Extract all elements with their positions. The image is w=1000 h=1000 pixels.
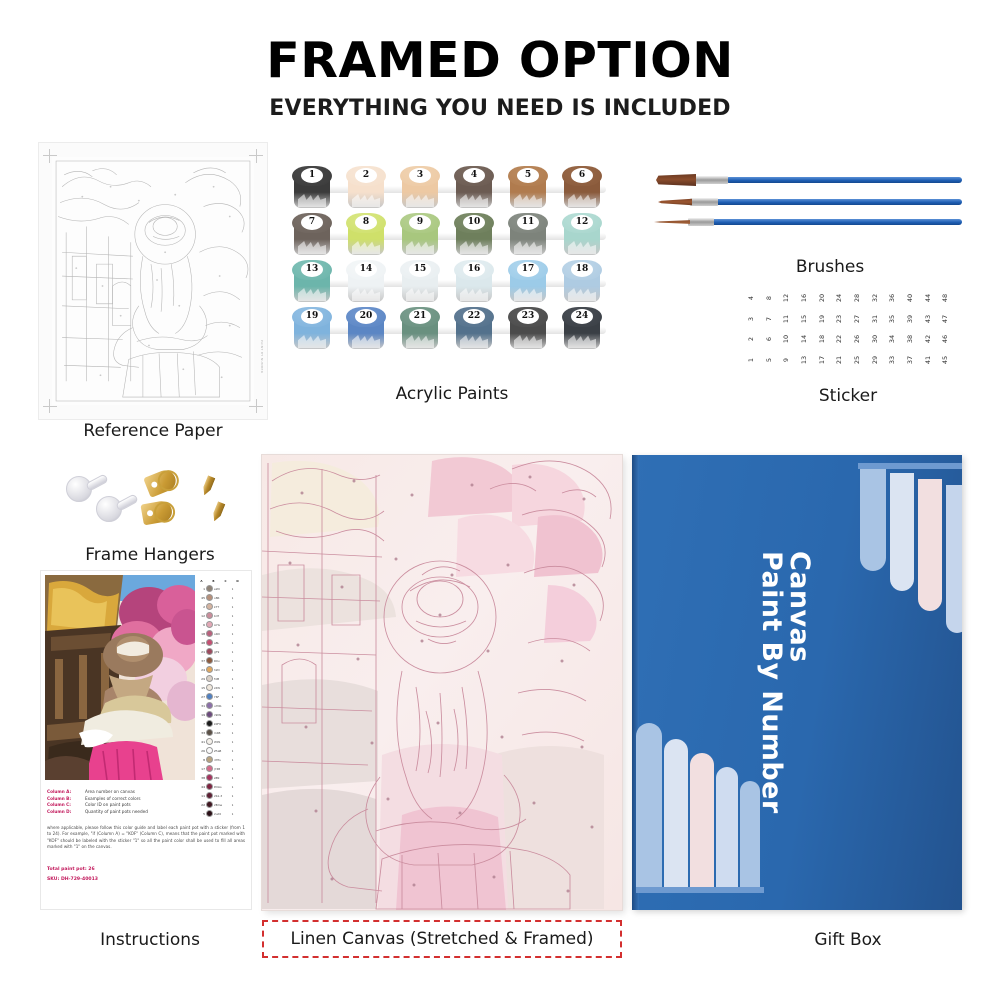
swatch-area-number: 44: [196, 785, 205, 789]
sticker-number[interactable]: 14: [800, 330, 808, 348]
swatch-row: 7k0F91: [196, 719, 248, 728]
swatch-column-header: D: [232, 579, 243, 583]
sticker-number[interactable]: 2: [747, 330, 755, 348]
instruction-column-key: Column B:: [47, 796, 81, 801]
paint-pot[interactable]: 9: [400, 213, 440, 255]
swatch-column-header: C: [220, 579, 231, 583]
paint-pot[interactable]: 11: [508, 213, 548, 255]
swatch-color-code: R0u: [214, 659, 228, 663]
swatch-quantity: 1: [229, 758, 236, 762]
swatch-color-code: u7Nb: [214, 704, 228, 708]
swatch-color-dot: [206, 657, 213, 664]
sticker-number[interactable]: 31: [870, 310, 878, 328]
caption-linen-canvas: Linen Canvas (Stretched & Framed): [262, 920, 622, 958]
sticker-number[interactable]: 22: [835, 330, 843, 348]
swatch-color-code: e2N: [214, 587, 228, 591]
instruction-column-key: Column D:: [47, 809, 81, 814]
swatch-area-number: 29: [196, 677, 205, 681]
sticker-number[interactable]: 3: [747, 310, 755, 328]
sticker-number[interactable]: 11: [782, 310, 790, 328]
sticker-number[interactable]: 43: [923, 310, 931, 328]
swatch-row: 2k7T1: [196, 602, 248, 611]
swatch-quantity: 1: [229, 623, 236, 627]
swatch-quantity: 1: [229, 704, 236, 708]
sticker-number[interactable]: 21: [835, 351, 843, 369]
sticker-number[interactable]: 26: [853, 330, 861, 348]
paint-pot[interactable]: 21: [400, 307, 440, 349]
swatch-color-dot: [206, 621, 213, 628]
paint-pot[interactable]: 17: [508, 260, 548, 302]
swatch-area-number: 19: [196, 713, 205, 717]
swatch-quantity: 1: [229, 650, 236, 654]
paint-pot[interactable]: 22: [454, 307, 494, 349]
sticker-column: 32313029: [866, 288, 884, 370]
swatch-area-number: 38: [196, 776, 205, 780]
paint-pot-number: 8: [355, 215, 377, 230]
swatch-row: 21gT91: [196, 647, 248, 656]
swatch-area-number: 26: [196, 749, 205, 753]
brush-tip-flat: [656, 174, 696, 186]
swatch-color-code: h2D: [214, 668, 228, 672]
swatch-color-dot: [206, 648, 213, 655]
instruction-column-value: Quantity of paint pots needed: [85, 809, 148, 814]
sticker-number[interactable]: 4: [747, 289, 755, 307]
swatch-quantity: 1: [229, 641, 236, 645]
swatch-color-dot: [206, 693, 213, 700]
instruction-column-line: Column D:Quantity of paint pots needed: [47, 809, 247, 814]
sticker-number[interactable]: 20: [817, 289, 825, 307]
paint-pot-number: 21: [409, 309, 431, 324]
sticker-number[interactable]: 13: [800, 351, 808, 369]
swatch-area-number: 7: [196, 722, 205, 726]
paint-pot[interactable]: 20: [346, 307, 386, 349]
reference-line-art: [52, 157, 254, 405]
paint-pot-number: 19: [301, 309, 323, 324]
sticker-number[interactable]: 24: [835, 289, 843, 307]
swatch-color-dot: [206, 603, 213, 610]
swatch-color-dot: [206, 774, 213, 781]
paint-pot[interactable]: 8: [346, 213, 386, 255]
sticker-number[interactable]: 7: [764, 310, 772, 328]
swatch-quantity: 1: [229, 740, 236, 744]
instructions-sheet: ABCD 1e2N145o8R12k7T112bd716A7G118o4N148…: [40, 570, 252, 910]
paint-pot[interactable]: 4: [454, 166, 494, 208]
paint-pot-strip: [298, 186, 606, 193]
swatch-area-number: 6: [196, 623, 205, 627]
paint-pot[interactable]: 10: [454, 213, 494, 255]
caption-acrylic-paints: Acrylic Paints: [292, 384, 612, 404]
instruction-column-key: Column C:: [47, 802, 81, 807]
swatch-area-number: 27: [196, 695, 205, 699]
swatch-quantity: 1: [229, 785, 236, 789]
caption-sticker: Sticker: [742, 386, 954, 406]
instructions-total-paint-pots: Total paint pot: 26: [47, 867, 95, 872]
paint-pot-row: 789101112: [292, 213, 612, 257]
paint-pot-number: 1: [301, 168, 323, 183]
gift-box-title-line2: Paint By Number: [756, 551, 786, 814]
swatch-row: 37R0u1: [196, 656, 248, 665]
sticker-number[interactable]: 12: [782, 289, 790, 307]
gift-box-title-line1: Canvas: [784, 551, 814, 663]
swatch-row: 17jY4B1: [196, 764, 248, 773]
brush-tip-round: [658, 198, 692, 206]
instructions-preview-image: [45, 575, 195, 780]
swatch-area-number: 12: [196, 614, 205, 618]
hanger-screw: [211, 501, 226, 523]
instructions-paragraph: where applicable, please follow this col…: [47, 825, 245, 850]
swatch-row: 31u7Nb1: [196, 701, 248, 710]
swatch-color-dot: [206, 684, 213, 691]
sticker-number[interactable]: 18: [817, 330, 825, 348]
sticker-number[interactable]: 38: [906, 330, 914, 348]
paint-pot-number: 24: [571, 309, 593, 324]
swatch-quantity: 1: [229, 686, 236, 690]
sticker-number[interactable]: 41: [923, 351, 931, 369]
swatch-color-dot: [206, 765, 213, 772]
swatch-row: 15s5W1: [196, 683, 248, 692]
swatch-color-code: Y6F: [214, 695, 228, 699]
swatch-color-code: W0S: [214, 740, 228, 744]
paint-pot-strip: [298, 280, 606, 287]
swatch-area-number: 41: [196, 740, 205, 744]
sticker-column: 4321: [742, 288, 760, 370]
swatch-row: 26Z5aB1: [196, 746, 248, 755]
sticker-number[interactable]: 35: [888, 310, 896, 328]
sticker-number[interactable]: 5: [764, 351, 772, 369]
swatch-area-number: 33: [196, 731, 205, 735]
page-title: FRAMED OPTION: [0, 32, 1000, 89]
swatch-area-number: 48: [196, 641, 205, 645]
swatch-color-dot: [206, 585, 213, 592]
swatch-color-dot: [206, 747, 213, 754]
reference-paper-item: PAINT BY NUMBER: [38, 142, 268, 420]
sticker-item: 4321876512111091615141320191817242322212…: [742, 288, 954, 370]
paint-pot-number: 11: [517, 215, 539, 230]
swatch-color-dot: [206, 702, 213, 709]
caption-brushes: Brushes: [700, 257, 960, 277]
instruction-column-value: Area number on canvas: [85, 789, 135, 794]
paint-pot-number: 3: [409, 168, 431, 183]
swatch-area-number: 15: [196, 686, 205, 690]
swatch-color-code: c9Ms: [214, 713, 228, 717]
gift-box-item: Canvas Paint By Number: [632, 455, 962, 910]
swatch-color-code: Z5aB: [214, 749, 228, 753]
paint-pot[interactable]: 19: [292, 307, 332, 349]
sticker-number[interactable]: 42: [923, 330, 931, 348]
sticker-number[interactable]: 29: [870, 351, 878, 369]
swatch-column-header: B: [208, 579, 219, 583]
hanger-d-ring: [143, 467, 179, 498]
sticker-column: 16151413: [795, 288, 813, 370]
paint-pot-number: 14: [355, 262, 377, 277]
swatch-color-code: jY4B: [214, 767, 228, 771]
swatch-color-code: bd7: [214, 614, 228, 618]
swatch-quantity: 1: [229, 722, 236, 726]
swatch-color-code: o8R: [214, 596, 228, 600]
swatch-color-dot: [206, 720, 213, 727]
sticker-column: 8765: [760, 288, 778, 370]
swatch-quantity: 1: [229, 677, 236, 681]
sticker-sheet: 4321876512111091615141320191817242322212…: [742, 288, 954, 370]
sticker-number[interactable]: 8: [764, 289, 772, 307]
swatch-row: 29f4M1: [196, 674, 248, 683]
caption-reference-paper: Reference Paper: [38, 421, 268, 441]
swatch-column-header: A: [196, 579, 207, 583]
caption-instructions: Instructions: [40, 930, 260, 950]
sticker-number[interactable]: 32: [870, 289, 878, 307]
paint-pot-row: 192021222324: [292, 307, 612, 351]
swatch-row: 27Y6F1: [196, 692, 248, 701]
sticker-column: 28272625: [848, 288, 866, 370]
swatch-color-dot: [206, 639, 213, 646]
swatch-row: 1e2N1: [196, 584, 248, 593]
instruction-column-line: Column A:Area number on canvas: [47, 789, 247, 794]
paint-pot-number: 13: [301, 262, 323, 277]
swatch-row: 38z8N1: [196, 773, 248, 782]
paint-pot-strip: [298, 233, 606, 240]
sticker-number[interactable]: 45: [941, 351, 949, 369]
paint-pot-number: 6: [571, 168, 593, 183]
paint-pot-row: 123456: [292, 166, 612, 210]
paint-pot[interactable]: 24: [562, 307, 602, 349]
sticker-column: 48474645: [936, 288, 954, 370]
swatch-area-number: 17: [196, 767, 205, 771]
swatch-quantity: 1: [229, 632, 236, 636]
swatch-color-code: a8L: [214, 641, 228, 645]
swatch-quantity: 1: [229, 596, 236, 600]
swatch-area-number: 37: [196, 659, 205, 663]
paint-pot-number: 15: [409, 262, 431, 277]
reference-paper-edge-text: PAINT BY NUMBER: [260, 340, 264, 373]
instruction-column-line: Column C:Color ID on paint pots: [47, 802, 247, 807]
swatch-quantity: 1: [229, 614, 236, 618]
paint-pot-number: 23: [517, 309, 539, 324]
swatch-color-code: k0F9: [214, 722, 228, 726]
sticker-number[interactable]: 23: [835, 310, 843, 328]
paint-pot-number: 16: [463, 262, 485, 277]
instruction-column-value: Color ID on paint pots: [85, 802, 131, 807]
swatch-area-number: 31: [196, 704, 205, 708]
swatch-area-number: 24: [196, 668, 205, 672]
instruction-column-key: Column A:: [47, 789, 81, 794]
caption-frame-hangers: Frame Hangers: [40, 545, 260, 565]
swatch-color-dot: [206, 729, 213, 736]
paint-pot-number: 18: [571, 262, 593, 277]
acrylic-paints-item: 123456789101112131415161718192021222324: [292, 166, 612, 358]
sticker-number[interactable]: 16: [800, 289, 808, 307]
swatch-color-code: s5W: [214, 686, 228, 690]
caption-gift-box: Gift Box: [742, 930, 954, 950]
swatch-area-number: 21: [196, 650, 205, 654]
sticker-number[interactable]: 15: [800, 310, 808, 328]
page-subtitle: EVERYTHING YOU NEED IS INCLUDED: [0, 96, 1000, 121]
paint-pot-number: 4: [463, 168, 485, 183]
swatch-color-dot: [206, 756, 213, 763]
instruction-column-value: Examples of correct colors: [85, 796, 141, 801]
sticker-number[interactable]: 25: [853, 351, 861, 369]
sticker-number[interactable]: 46: [941, 330, 949, 348]
paint-pot-number: 22: [463, 309, 485, 324]
swatch-table-header: ABCD: [196, 577, 248, 584]
sticker-number[interactable]: 30: [870, 330, 878, 348]
paint-pot[interactable]: 23: [508, 307, 548, 349]
swatch-quantity: 1: [229, 659, 236, 663]
swatch-quantity: 1: [229, 767, 236, 771]
hanger-screw: [201, 475, 216, 497]
swatch-row: 8d7Ps1: [196, 755, 248, 764]
swatch-color-code: m4B: [214, 731, 228, 735]
swatch-quantity: 1: [229, 713, 236, 717]
paint-pot[interactable]: 18: [562, 260, 602, 302]
paint-pot-number: 17: [517, 262, 539, 277]
swatch-quantity: 1: [229, 587, 236, 591]
paint-pot[interactable]: 14: [346, 260, 386, 302]
sticker-column: 1211109: [777, 288, 795, 370]
sticker-number[interactable]: 37: [906, 351, 914, 369]
sticker-number[interactable]: 17: [817, 351, 825, 369]
paint-pot-number: 7: [301, 215, 323, 230]
swatch-row: 6A7G1: [196, 620, 248, 629]
sticker-number[interactable]: 44: [923, 289, 931, 307]
paint-pot[interactable]: 12: [562, 213, 602, 255]
sticker-number[interactable]: 33: [888, 351, 896, 369]
paint-pot-number: 2: [355, 168, 377, 183]
sticker-number[interactable]: 34: [888, 330, 896, 348]
paint-pot[interactable]: 6: [562, 166, 602, 208]
swatch-quantity: 1: [229, 731, 236, 735]
sticker-number[interactable]: 6: [764, 330, 772, 348]
sticker-column: 24232221: [830, 288, 848, 370]
sticker-number[interactable]: 19: [817, 310, 825, 328]
swatch-quantity: 1: [229, 695, 236, 699]
instructions-item: ABCD 1e2N145o8R12k7T112bd716A7G118o4N148…: [40, 570, 252, 910]
sticker-number[interactable]: 10: [782, 330, 790, 348]
sticker-column: 36353433: [883, 288, 901, 370]
paint-pot[interactable]: 7: [292, 213, 332, 255]
swatch-row: 33m4B1: [196, 728, 248, 737]
instructions-column-legend: Column A:Area number on canvasColumn B:E…: [47, 789, 247, 815]
paint-pot[interactable]: 2: [346, 166, 386, 208]
brushes-item: [632, 168, 962, 268]
linen-canvas-item: [262, 455, 622, 910]
paint-pot[interactable]: 5: [508, 166, 548, 208]
swatch-row: 45o8R1: [196, 593, 248, 602]
swatch-color-dot: [206, 711, 213, 718]
sticker-number[interactable]: 40: [906, 289, 914, 307]
swatch-row: 24h2D1: [196, 665, 248, 674]
gift-box-body: Canvas Paint By Number: [632, 455, 962, 910]
paint-pot[interactable]: 13: [292, 260, 332, 302]
swatch-quantity: 1: [229, 776, 236, 780]
swatch-area-number: 2: [196, 605, 205, 609]
swatch-row: 18o4N1: [196, 629, 248, 638]
paint-pot[interactable]: 1: [292, 166, 332, 208]
swatch-row: 41W0S1: [196, 737, 248, 746]
sticker-number[interactable]: 1: [747, 351, 755, 369]
paint-pot-strip: [298, 327, 606, 334]
swatch-color-dot: [206, 675, 213, 682]
swatch-color-code: d7Ps: [214, 758, 228, 762]
swatch-area-number: 1: [196, 587, 205, 591]
brush-tip-liner: [654, 219, 690, 225]
swatch-color-code: z8N: [214, 776, 228, 780]
swatch-color-dot: [206, 594, 213, 601]
swatch-area-number: 18: [196, 632, 205, 636]
paint-pot-number: 10: [463, 215, 485, 230]
sticker-number[interactable]: 48: [941, 289, 949, 307]
swatch-color-code: f4M: [214, 677, 228, 681]
swatch-quantity: 1: [229, 749, 236, 753]
sticker-column: 40393837: [901, 288, 919, 370]
swatch-row: 19c9Ms1: [196, 710, 248, 719]
swatch-area-number: 8: [196, 758, 205, 762]
swatch-color-code: A7G: [214, 623, 228, 627]
reference-paper-sheet: PAINT BY NUMBER: [38, 142, 268, 420]
swatch-color-dot: [206, 612, 213, 619]
paint-pot-row: 131415161718: [292, 260, 612, 304]
sticker-number[interactable]: 27: [853, 310, 861, 328]
hanger-d-ring: [140, 500, 173, 526]
swatch-row: 48a8L1: [196, 638, 248, 647]
canvas-artwork: [262, 455, 622, 910]
sticker-column: 44434241: [919, 288, 937, 370]
swatch-color-dot: [206, 666, 213, 673]
sticker-number[interactable]: 9: [782, 351, 790, 369]
sticker-column: 20191817: [813, 288, 831, 370]
sticker-number[interactable]: 39: [906, 310, 914, 328]
paint-pot[interactable]: 3: [400, 166, 440, 208]
frame-hangers-item: [62, 470, 242, 538]
swatch-area-number: 45: [196, 596, 205, 600]
sticker-number[interactable]: 47: [941, 310, 949, 328]
paint-pot-number: 20: [355, 309, 377, 324]
paint-pot-number: 12: [571, 215, 593, 230]
swatch-quantity: 1: [229, 605, 236, 609]
swatch-color-code: gT9: [214, 650, 228, 654]
sticker-number[interactable]: 28: [853, 289, 861, 307]
swatch-color-dot: [206, 738, 213, 745]
instruction-column-line: Column B:Examples of correct colors: [47, 796, 247, 801]
swatch-quantity: 1: [229, 668, 236, 672]
swatch-row: 12bd71: [196, 611, 248, 620]
sticker-number[interactable]: 36: [888, 289, 896, 307]
paint-pot-number: 5: [517, 168, 539, 183]
paint-pot-number: 9: [409, 215, 431, 230]
swatch-color-code: o4N: [214, 632, 228, 636]
instructions-sku: SKU: DH-729-40013: [47, 877, 98, 882]
swatch-color-code: k7T: [214, 605, 228, 609]
swatch-color-dot: [206, 630, 213, 637]
swatch-color-code: Pmbs: [214, 785, 228, 789]
paint-pot[interactable]: 16: [454, 260, 494, 302]
paint-pot[interactable]: 15: [400, 260, 440, 302]
